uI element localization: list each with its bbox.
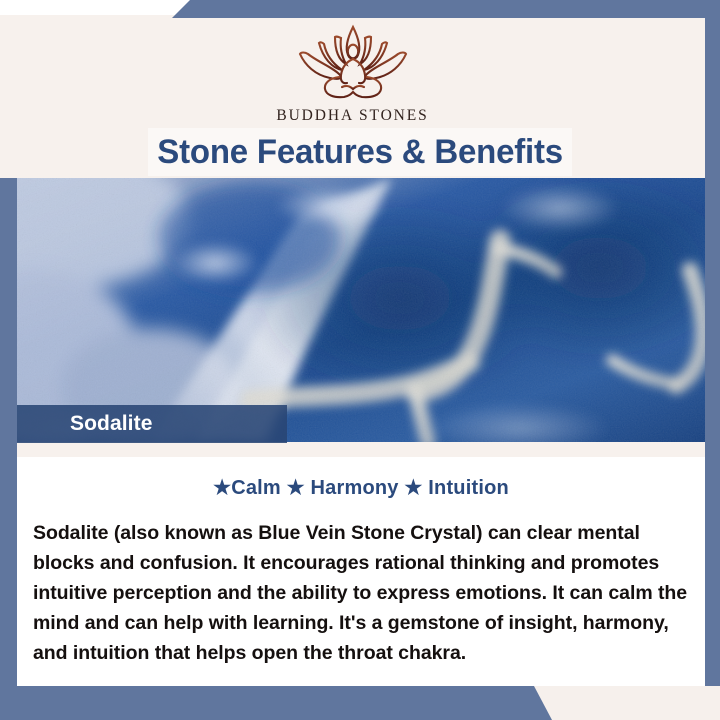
page-title: Stone Features & Benefits [157, 133, 563, 172]
stone-description: Sodalite (also known as Blue Vein Stone … [33, 518, 689, 668]
stone-info-card: BUDDHA STONES [0, 0, 720, 720]
benefits-line: ★Calm ★ Harmony ★ Intuition [17, 475, 705, 500]
lotus-meditation-icon [278, 21, 428, 105]
frame-left-corner [0, 178, 17, 194]
frame-right-bar [705, 0, 720, 686]
brand-logo: BUDDHA STONES [0, 21, 705, 125]
stone-name: Sodalite [70, 412, 152, 436]
stone-caption-bar: Sodalite [17, 405, 287, 443]
brand-name: BUDDHA STONES [276, 107, 428, 125]
page-title-band: Stone Features & Benefits [148, 128, 572, 176]
content-panel: ★Calm ★ Harmony ★ Intuition Sodalite (al… [17, 457, 705, 686]
frame-left-bar [0, 178, 17, 720]
content-top-strip [17, 442, 705, 457]
sodalite-stone-photo [0, 178, 720, 442]
stone-texture [0, 178, 720, 442]
